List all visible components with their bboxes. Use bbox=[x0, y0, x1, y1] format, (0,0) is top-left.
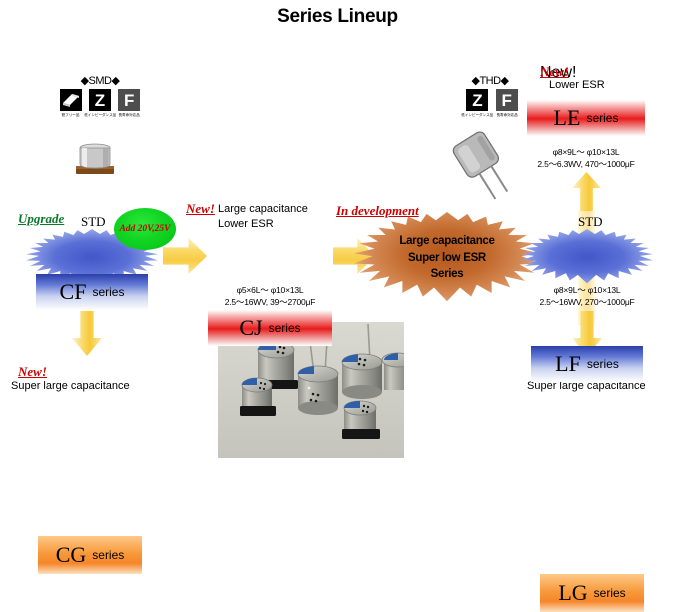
lf-series-code: LF bbox=[555, 351, 581, 377]
development-starburst[interactable]: Large capacitance Super low ESR Series bbox=[354, 212, 540, 304]
cf-add-voltage-badge[interactable]: Add 20V,25V bbox=[114, 208, 176, 250]
cf-series-code: CF bbox=[60, 279, 87, 305]
thd-icon-row: Z 低インピーダンス品 F 長寿命対応品 bbox=[452, 89, 528, 117]
le-spec-size: φ8×9L～ φ10×13L bbox=[512, 146, 660, 159]
cf-series-suffix: series bbox=[92, 285, 124, 299]
cj-series-code: CJ bbox=[239, 315, 262, 341]
le-feature-label: Lower ESR bbox=[549, 79, 605, 91]
le-series-code: LE bbox=[554, 105, 581, 131]
lf-series-suffix: series bbox=[587, 357, 619, 371]
development-line-1: Large capacitance bbox=[399, 233, 494, 250]
low-impedance-icon: Z bbox=[466, 89, 488, 111]
arrow-lf-to-le bbox=[572, 172, 601, 212]
cg-series-code: CG bbox=[56, 542, 87, 568]
cj-feature-2: Lower ESR bbox=[218, 218, 274, 230]
cj-spec-voltage: 2.5～16WV, 39～2700μF bbox=[192, 296, 348, 309]
smd-label: ◆SMD◆ bbox=[52, 74, 148, 87]
thd-icon-cell-low-impedance: Z 低インピーダンス品 bbox=[462, 89, 492, 117]
cj-series-suffix: series bbox=[269, 321, 301, 335]
cf-std-label: STD bbox=[81, 214, 106, 230]
lg-series-suffix: series bbox=[594, 586, 626, 600]
smd-package-group: ◆SMD◆ 鉛フリー品 Z 低インピーダンス品 F bbox=[52, 74, 148, 117]
lf-starburst bbox=[521, 229, 653, 285]
long-life-icon: F bbox=[118, 89, 140, 111]
thd-package-group: ◆THD◆ Z 低インピーダンス品 F 長寿命対応品 bbox=[452, 74, 528, 117]
slide-canvas: Series Lineup ◆SMD◆ 鉛フリー品 Z 低インピーダンス品 bbox=[0, 0, 675, 506]
le-spec-voltage: 2.5～6.3WV, 470～1000μF bbox=[512, 158, 660, 171]
cf-series-box[interactable]: CF series bbox=[36, 274, 148, 310]
le-new-label: New! bbox=[540, 64, 569, 80]
cf-upgrade-label: Upgrade bbox=[18, 211, 64, 227]
low-impedance-caption: 低インピーダンス品 bbox=[84, 112, 116, 117]
cj-feature-1: Large capacitance bbox=[218, 203, 308, 215]
le-series-suffix: series bbox=[586, 111, 618, 125]
cg-new-label: New! bbox=[18, 364, 47, 380]
cf-add-voltage-text: Add 20V,25V bbox=[119, 223, 170, 235]
development-line-3: Series bbox=[431, 266, 464, 283]
smd-icon-row: 鉛フリー品 Z 低インピーダンス品 F 長寿命対応品 bbox=[52, 89, 148, 117]
cj-spec-size: φ5×6L～ φ10×13L bbox=[192, 284, 348, 297]
lf-std-label: STD bbox=[578, 214, 603, 230]
development-line-2: Super low ESR bbox=[408, 250, 486, 267]
low-impedance-icon: Z bbox=[89, 89, 111, 111]
cg-feature-label: Super large capacitance bbox=[11, 380, 130, 392]
lead-free-icon bbox=[60, 89, 82, 111]
lead-free-caption: 鉛フリー品 bbox=[62, 112, 80, 117]
long-life-caption: 長寿命対応品 bbox=[119, 112, 140, 117]
lg-series-box[interactable]: LG series bbox=[540, 574, 644, 612]
page-title: Series Lineup bbox=[0, 6, 675, 28]
cg-series-box[interactable]: CG series bbox=[38, 536, 142, 574]
cj-new-label: New! bbox=[186, 201, 215, 217]
long-life-caption: 長寿命対応品 bbox=[496, 112, 517, 117]
thd-label: ◆THD◆ bbox=[452, 74, 528, 87]
lg-series-code: LG bbox=[558, 580, 587, 606]
development-starburst-text: Large capacitance Super low ESR Series bbox=[354, 212, 540, 304]
smd-icon-cell-low-impedance: Z 低インピーダンス品 bbox=[85, 89, 115, 117]
cg-series-suffix: series bbox=[92, 548, 124, 562]
low-impedance-caption: 低インピーダンス品 bbox=[462, 112, 494, 117]
smd-icon-cell-lead-free: 鉛フリー品 bbox=[60, 89, 82, 117]
smd-icon-cell-long-life: F 長寿命対応品 bbox=[118, 89, 140, 117]
arrow-cf-to-cj bbox=[163, 238, 207, 274]
thd-icon-cell-long-life: F 長寿命対応品 bbox=[496, 89, 518, 117]
arrow-cf-to-cg bbox=[72, 311, 102, 356]
smd-capacitor-illustration bbox=[72, 137, 118, 182]
thd-capacitor-illustration bbox=[438, 128, 516, 211]
long-life-icon: F bbox=[496, 89, 518, 111]
le-series-box[interactable]: LE series bbox=[527, 100, 645, 136]
lf-series-box[interactable]: LF series bbox=[531, 346, 643, 382]
cj-series-box[interactable]: CJ series bbox=[208, 310, 332, 346]
